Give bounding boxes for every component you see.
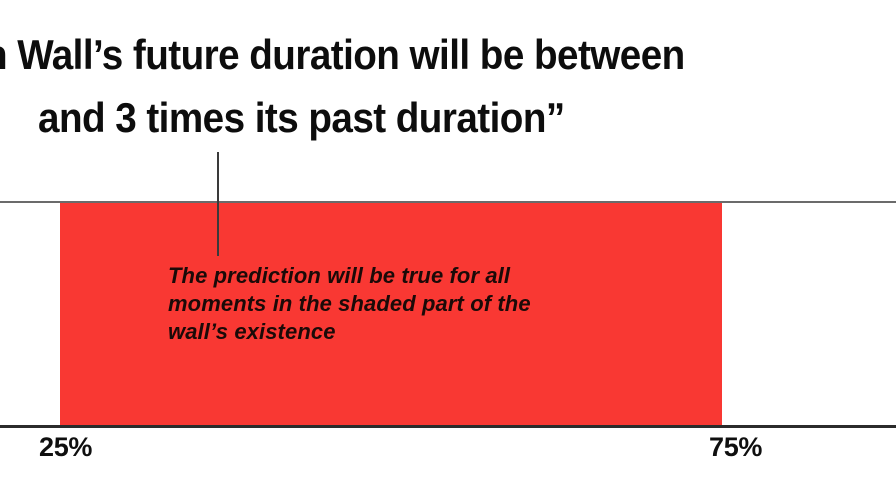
shaded-region-annotation: The prediction will be true for all mome…	[168, 262, 658, 346]
annotation-line-2: moments in the shaded part of the	[168, 290, 658, 318]
leader-line	[217, 152, 219, 256]
axis-tick-label-75-percent: 75%	[709, 434, 762, 461]
annotation-line-1: The prediction will be true for all	[168, 262, 658, 290]
page-title-line-1: n Wall’s future duration will be between	[0, 34, 685, 76]
page-title: n Wall’s future duration will be between…	[0, 0, 896, 190]
footer-strip	[0, 470, 896, 504]
annotation-line-3: wall’s existence	[168, 318, 658, 346]
axis-baseline-rule	[0, 425, 896, 428]
page-title-line-2: and 3 times its past duration”	[38, 97, 565, 139]
axis-tick-label-25-percent: 25%	[39, 434, 92, 461]
figure-canvas: n Wall’s future duration will be between…	[0, 0, 896, 504]
